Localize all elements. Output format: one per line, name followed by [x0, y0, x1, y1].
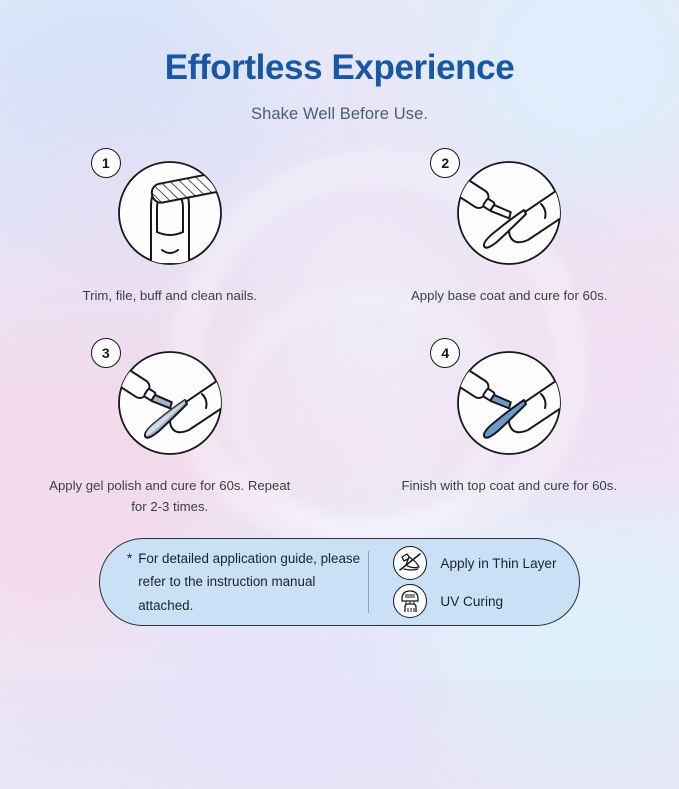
thin-layer-no-thick-icon — [393, 546, 427, 580]
nail-file-icon — [105, 146, 235, 276]
info-tips: Apply in Thin Layer UV Curing — [369, 544, 579, 620]
step-3: 3 — [0, 336, 340, 517]
step-1-caption: Trim, file, buff and clean nails. — [0, 286, 340, 306]
step-3-illustration: 3 — [0, 336, 340, 466]
steps-grid: 1 — [0, 146, 679, 517]
info-tip-label: UV Curing — [440, 594, 503, 609]
step-3-number: 3 — [102, 345, 110, 361]
step-3-caption: Apply gel polish and cure for 60s. Repea… — [0, 476, 340, 517]
info-tip-label: Apply in Thin Layer — [440, 556, 556, 571]
asterisk-marker: * — [127, 547, 132, 616]
step-2-illustration: 2 — [340, 146, 679, 276]
page-title: Effortless Experience — [0, 48, 679, 88]
step-1-illustration: 1 — [0, 146, 340, 276]
step-1: 1 — [0, 146, 340, 306]
step-4-caption: Finish with top coat and cure for 60s. — [340, 476, 679, 496]
gel-polish-brush-icon — [105, 336, 235, 466]
step-4: 4 — [340, 336, 679, 517]
top-coat-brush-icon — [444, 336, 574, 466]
base-coat-brush-icon — [444, 146, 574, 276]
instruction-page: Effortless Experience Shake Well Before … — [0, 0, 679, 679]
info-note: * For detailed application guide, please… — [100, 547, 368, 616]
info-tip-uv-curing: UV Curing — [393, 582, 579, 620]
step-2-number: 2 — [441, 155, 449, 171]
info-tip-thin-layer: Apply in Thin Layer — [393, 544, 579, 582]
page-subtitle: Shake Well Before Use. — [0, 105, 679, 124]
step-4-number: 4 — [441, 345, 449, 361]
steps-row: 3 — [0, 336, 679, 517]
step-2: 2 — [340, 146, 679, 306]
info-note-text: For detailed application guide, please r… — [138, 547, 368, 616]
uv-lamp-icon — [393, 584, 427, 618]
info-box: * For detailed application guide, please… — [99, 538, 580, 626]
step-1-number: 1 — [102, 155, 110, 171]
step-4-illustration: 4 — [340, 336, 679, 466]
steps-row: 1 — [0, 146, 679, 306]
step-2-caption: Apply base coat and cure for 60s. — [340, 286, 679, 306]
step-1-number-badge: 1 — [91, 148, 121, 178]
